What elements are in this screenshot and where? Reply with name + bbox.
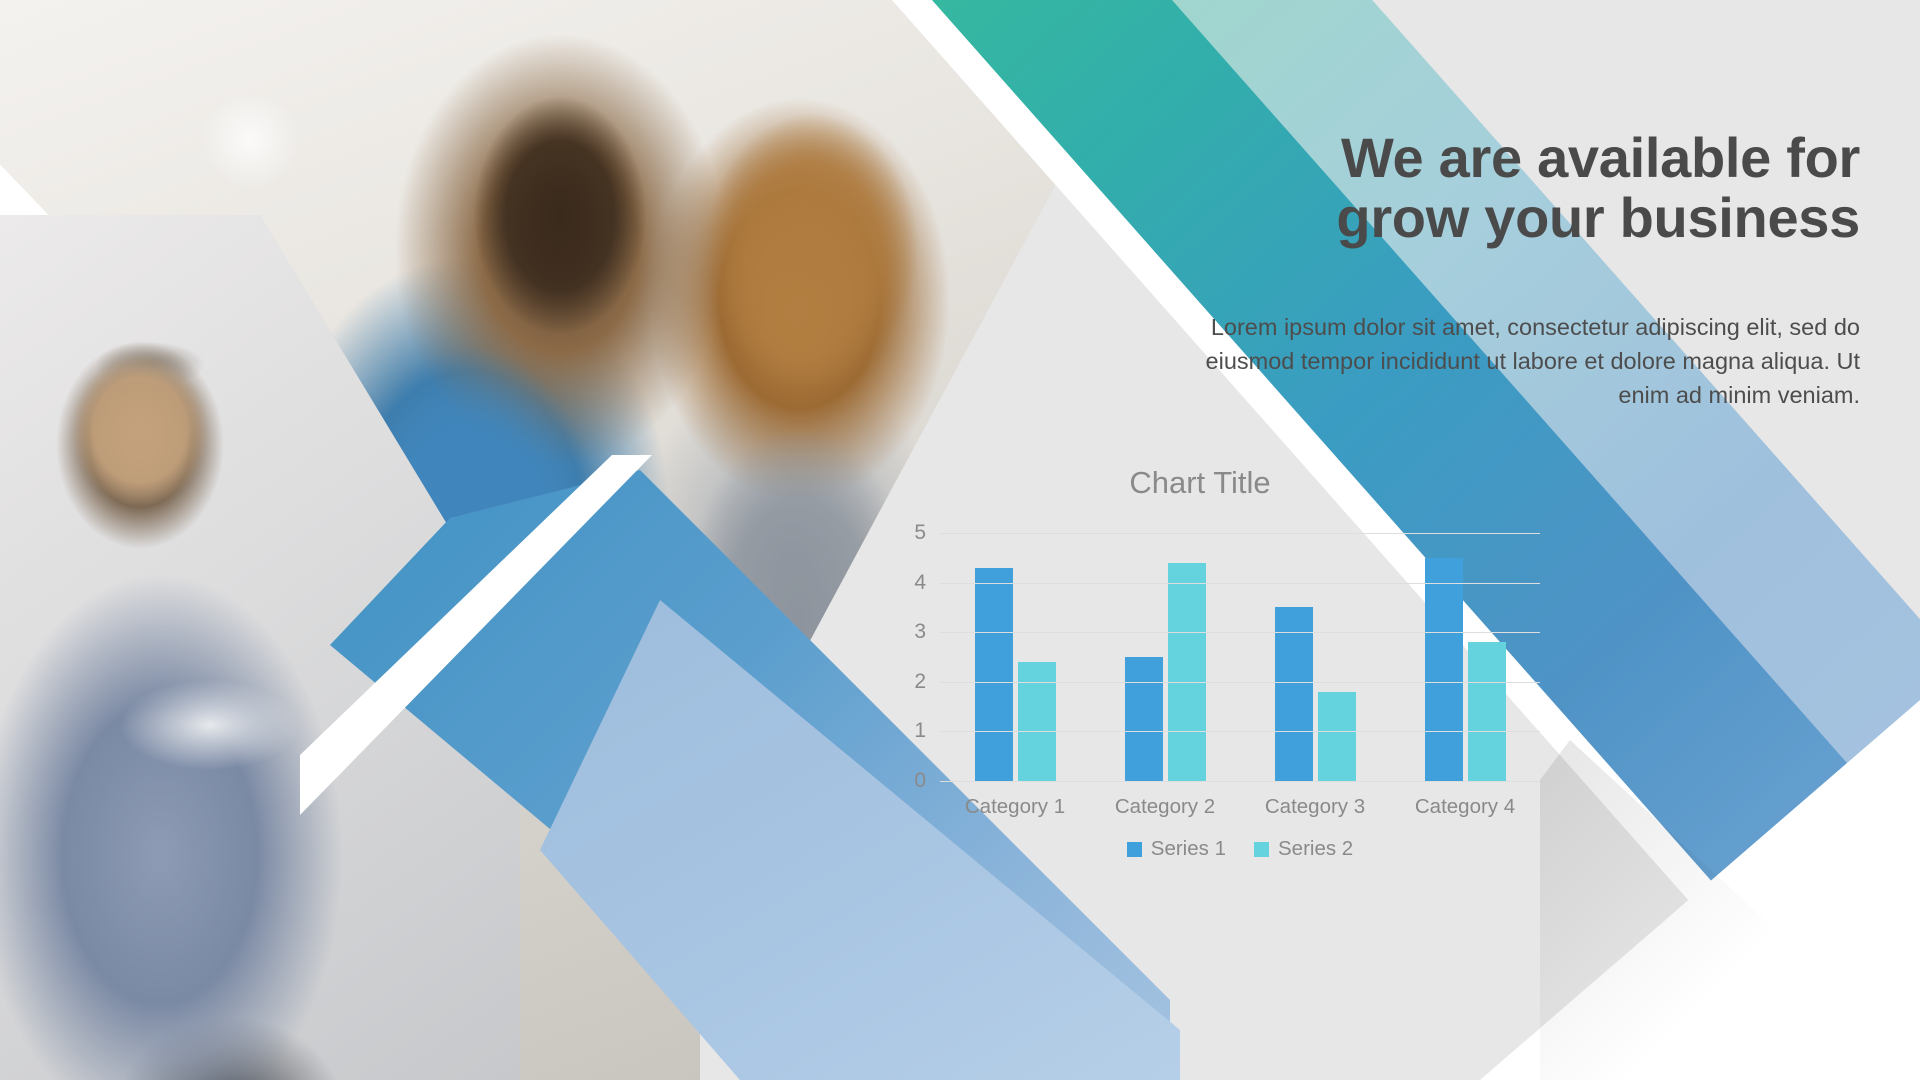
chart-y-tick-label: 2 <box>866 670 926 694</box>
chart-gridline <box>940 682 1540 683</box>
headline-line-2: grow your business <box>900 188 1860 248</box>
chart-x-label: Category 3 <box>1257 795 1373 819</box>
bar-chart: Chart Title 543210 Category 1Category 2C… <box>830 465 1570 905</box>
chart-legend-item[interactable]: Series 2 <box>1254 837 1353 861</box>
chart-x-label: Category 2 <box>1107 795 1223 819</box>
chart-y-tick-label: 0 <box>866 769 926 793</box>
chart-y-tick-label: 1 <box>866 719 926 743</box>
chart-gridline <box>940 781 1540 782</box>
chart-x-label: Category 1 <box>957 795 1073 819</box>
chart-bar-group <box>1407 558 1523 781</box>
chart-x-axis-labels: Category 1Category 2Category 3Category 4 <box>940 795 1540 819</box>
legend-label: Series 2 <box>1278 837 1353 861</box>
page-title: We are available for grow your business <box>900 128 1860 248</box>
chart-bar[interactable] <box>1425 558 1463 781</box>
chart-legend-item[interactable]: Series 1 <box>1127 837 1226 861</box>
legend-label: Series 1 <box>1151 837 1226 861</box>
chart-bar[interactable] <box>1318 692 1356 781</box>
chart-gridline <box>940 583 1540 584</box>
chart-bar-group <box>1257 607 1373 781</box>
body-paragraph: Lorem ipsum dolor sit amet, consectetur … <box>1180 310 1860 412</box>
chart-bar-group <box>1107 563 1223 781</box>
chart-bar[interactable] <box>975 568 1013 781</box>
presentation-slide: We are available for grow your business … <box>0 0 1920 1080</box>
chart-title: Chart Title <box>990 465 1410 501</box>
chart-legend: Series 1Series 2 <box>940 837 1540 861</box>
chart-bar-group <box>957 568 1073 781</box>
chart-gridline <box>940 533 1540 534</box>
chart-y-tick-label: 5 <box>866 521 926 545</box>
legend-color-swatch <box>1127 842 1142 857</box>
chart-bar[interactable] <box>1468 642 1506 781</box>
chart-gridline <box>940 632 1540 633</box>
chart-y-tick-label: 3 <box>866 620 926 644</box>
chart-bar[interactable] <box>1125 657 1163 781</box>
headline-line-1: We are available for <box>1341 126 1860 189</box>
legend-color-swatch <box>1254 842 1269 857</box>
chart-bar-groups <box>940 533 1540 781</box>
chart-y-tick-label: 4 <box>866 571 926 595</box>
chart-bar[interactable] <box>1018 662 1056 781</box>
chart-bar[interactable] <box>1275 607 1313 781</box>
chart-plot-area: 543210 <box>940 533 1540 781</box>
chart-x-label: Category 4 <box>1407 795 1523 819</box>
chart-bar[interactable] <box>1168 563 1206 781</box>
chart-gridline <box>940 731 1540 732</box>
